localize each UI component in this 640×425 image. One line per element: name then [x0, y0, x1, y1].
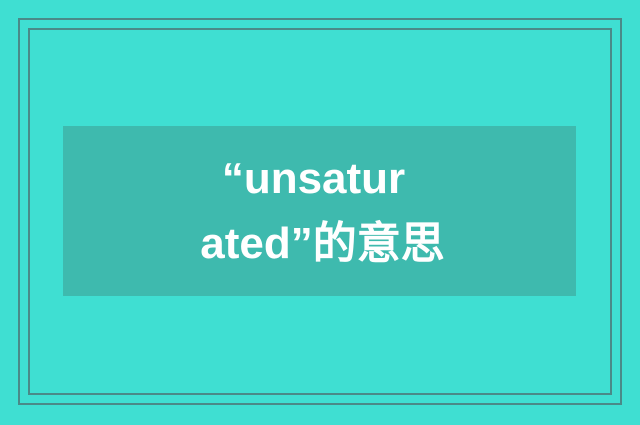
headline-line-1: “unsatur [222, 146, 405, 211]
headline-line-2: ated”的意思 [200, 211, 444, 276]
headline-panel: “unsatur ated”的意思 [63, 126, 576, 296]
poster-canvas: “unsatur ated”的意思 [0, 0, 640, 425]
